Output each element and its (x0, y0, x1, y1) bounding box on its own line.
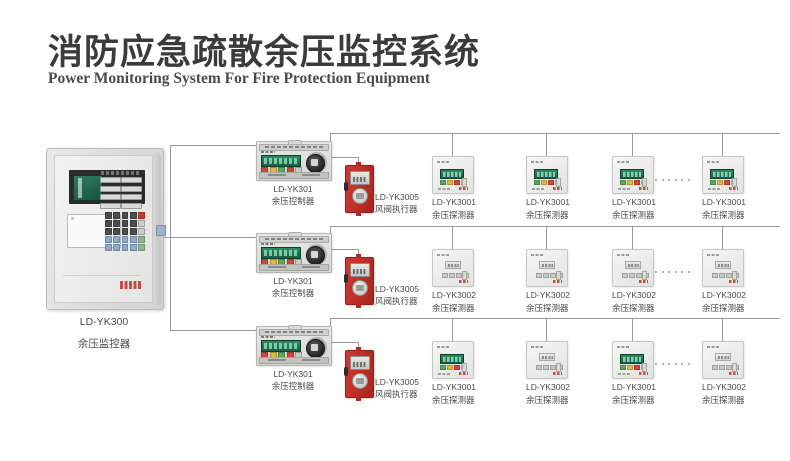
led-off (550, 365, 556, 370)
detector-display-panel (715, 261, 731, 269)
detector-port (732, 178, 737, 187)
detector-tag (707, 161, 719, 164)
led-off (726, 273, 732, 278)
detector-caption: LD-YK3001 余压探测器 (432, 196, 502, 222)
detector-body (526, 156, 568, 194)
led-off (442, 273, 448, 278)
brand-logo (120, 281, 142, 289)
detector-footer-text (708, 188, 720, 190)
detector-model-label: LD-YK3002 (702, 289, 772, 302)
ellipsis-row-1 (655, 179, 690, 181)
led-off (629, 273, 635, 278)
keypad-key[interactable] (105, 236, 112, 243)
detector-name-label: 余压探测器 (432, 209, 502, 222)
controller-model-label: LD-YK301 (248, 183, 338, 195)
keypad-key[interactable] (130, 228, 137, 235)
actuator-body (345, 350, 374, 398)
detector-row-1-4[interactable]: LD-YK3001 余压探测器 (702, 156, 742, 194)
controller-rotary-dial[interactable] (306, 246, 325, 265)
wire-detector-drop-3-2 (546, 318, 547, 341)
detector-port (642, 271, 647, 280)
detector-brand-mark (639, 187, 648, 190)
detector-body (432, 156, 474, 194)
keypad-key[interactable] (113, 228, 120, 235)
detector-model-label: LD-YK3001 (612, 381, 682, 394)
detector-lcd-screen (620, 354, 644, 364)
detector-caption: LD-YK3001 余压探测器 (432, 381, 502, 407)
detector-row-3-4[interactable]: LD-YK3002 余压探测器 (702, 341, 742, 379)
detector-row-3-1[interactable]: LD-YK3001 余压探测器 (432, 341, 472, 379)
fire-control-panel[interactable]: LD-YK300 余压监控器 (46, 148, 162, 310)
panel-button[interactable] (121, 203, 142, 209)
keypad-key[interactable] (105, 212, 112, 219)
ellipsis-row-2 (655, 271, 690, 273)
keypad-key[interactable] (130, 212, 137, 219)
detector-tag (707, 346, 719, 349)
detector-name-label: 余压探测器 (612, 394, 682, 407)
panel-button[interactable] (100, 186, 121, 192)
detector-model-label: LD-YK3002 (526, 381, 596, 394)
ellipsis-row-3 (655, 363, 690, 365)
panel-button-header-text (101, 171, 141, 175)
detector-tag (437, 161, 449, 164)
detector-name-label: 余压探测器 (612, 302, 682, 315)
detector-port (642, 363, 647, 372)
controller-body (256, 141, 332, 181)
keypad-key[interactable] (113, 236, 120, 243)
detector-model-label: LD-YK3001 (702, 196, 772, 209)
led-green (534, 180, 540, 185)
damper-actuator-row-2[interactable]: LD-YK3005 风阀执行器 (345, 257, 372, 305)
actuator-top-lug (356, 347, 361, 351)
wire-trunk-row-1 (330, 133, 780, 134)
detector-tag (531, 161, 543, 164)
keypad-key[interactable] (122, 220, 129, 227)
panel-button[interactable] (121, 186, 142, 192)
controller-body (256, 233, 332, 273)
detector-row-3-2[interactable]: LD-YK3002 余压探测器 (526, 341, 566, 379)
controller-model-label: LD-YK301 (248, 368, 338, 380)
controller-rotary-dial[interactable] (306, 339, 325, 358)
detector-model-label: LD-YK3002 (702, 381, 772, 394)
wire-detector-drop-2-2 (546, 226, 547, 249)
led-off (536, 365, 542, 370)
detector-name-label: 余压探测器 (702, 302, 772, 315)
detector-body (702, 249, 744, 287)
detector-tag (437, 254, 449, 257)
detector-port (556, 178, 561, 187)
led-off (543, 365, 549, 370)
detector-port (556, 363, 561, 372)
detector-brand-mark (553, 280, 562, 283)
panel-keypad[interactable] (105, 212, 145, 252)
detector-caption: LD-YK3002 余压探测器 (702, 289, 772, 315)
led-off (622, 273, 628, 278)
controller-row-2[interactable]: LD-YK301 余压控制器 (256, 233, 330, 273)
detector-name-label: 余压探测器 (432, 302, 502, 315)
detector-name-label: 余压探测器 (526, 209, 596, 222)
led-off (536, 273, 542, 278)
wire-detector-drop-3-3 (632, 318, 633, 341)
detector-brand-mark (729, 280, 738, 283)
detector-name-label: 余压探测器 (526, 394, 596, 407)
actuator-knob[interactable] (352, 188, 368, 204)
detector-footer-text (532, 188, 544, 190)
panel-button[interactable] (100, 177, 121, 183)
detector-caption: LD-YK3002 余压探测器 (702, 381, 772, 407)
panel-button[interactable] (100, 194, 121, 200)
detector-model-label: LD-YK3001 (432, 381, 502, 394)
detector-footer-text (438, 373, 450, 375)
controller-model-label: LD-YK301 (248, 275, 338, 287)
actuator-display (350, 356, 370, 370)
detector-port (462, 178, 467, 187)
detector-display-panel (539, 353, 555, 361)
wire-detector-drop-3-1 (452, 318, 453, 341)
controller-terminal-strip (259, 329, 329, 336)
led-green (620, 180, 626, 185)
actuator-side-connector (344, 367, 348, 376)
actuator-body (345, 257, 374, 305)
keypad-key[interactable] (130, 220, 137, 227)
led-yellow (447, 180, 453, 185)
led-red (634, 365, 640, 370)
led-off (712, 273, 718, 278)
led-green (440, 365, 446, 370)
detector-body (526, 249, 568, 287)
detector-lcd-screen (440, 169, 464, 179)
led-off (550, 273, 556, 278)
detector-brand-mark (553, 372, 562, 375)
wire-detector-drop-3-4 (722, 318, 723, 341)
controller-terminal-strip (259, 236, 329, 243)
detector-row-1-1[interactable]: LD-YK3001 余压探测器 (432, 156, 472, 194)
wire-detector-drop-2-1 (452, 226, 453, 249)
detector-body (612, 249, 654, 287)
detector-tag (437, 346, 449, 349)
detector-model-label: LD-YK3002 (526, 289, 596, 302)
actuator-bottom-lug (356, 304, 361, 308)
led-off (719, 365, 725, 370)
detector-model-label: LD-YK3001 (432, 196, 502, 209)
led-off (449, 273, 455, 278)
wire-controller-to-actuator-2 (330, 249, 358, 250)
panel-bus-port (156, 225, 166, 236)
actuator-side-connector (344, 274, 348, 283)
wire-controller-to-actuator-1 (330, 157, 358, 158)
detector-display-panel (539, 261, 555, 269)
keypad-key[interactable] (113, 220, 120, 227)
detector-body (612, 156, 654, 194)
detector-caption: LD-YK3002 余压探测器 (432, 289, 502, 315)
detector-caption: LD-YK3002 余压探测器 (526, 289, 596, 315)
controller-rotary-dial[interactable] (306, 154, 325, 173)
wire-detector-drop-1-1 (452, 133, 453, 156)
detector-tag (531, 346, 543, 349)
actuator-side-connector (344, 182, 348, 191)
led-green (710, 180, 716, 185)
panel-faceplate (54, 155, 153, 303)
detector-row-1-2[interactable]: LD-YK3001 余压探测器 (526, 156, 566, 194)
keypad-key[interactable] (122, 236, 129, 243)
controller-lcd-screen (261, 155, 301, 167)
detector-footer-text (618, 373, 630, 375)
detector-lcd-screen (534, 169, 558, 179)
wire-controller-riser-3 (330, 318, 331, 326)
detector-brand-mark (459, 280, 468, 283)
damper-actuator-row-3[interactable]: LD-YK3005 风阀执行器 (345, 350, 372, 398)
controller-terminal-strip (259, 144, 329, 151)
detector-footer-text (438, 188, 450, 190)
led-yellow (627, 365, 633, 370)
led-off (636, 273, 642, 278)
controller-terminal-text (265, 146, 323, 148)
detector-port (642, 178, 647, 187)
detector-row-3-3[interactable]: LD-YK3001 余压探测器 (612, 341, 652, 379)
led-yellow (541, 180, 547, 185)
detector-model-label: LD-YK3001 (526, 196, 596, 209)
detector-brand-mark (729, 372, 738, 375)
detector-caption: LD-YK3001 余压探测器 (612, 196, 682, 222)
detector-tag (531, 254, 543, 257)
led-yellow (627, 180, 633, 185)
detector-model-label: LD-YK3002 (612, 289, 682, 302)
detector-lcd-screen (710, 169, 734, 179)
panel-lcd-screen (73, 175, 103, 201)
detector-row-2-4[interactable]: LD-YK3002 余压探测器 (702, 249, 742, 287)
panel-button[interactable] (100, 203, 121, 209)
keypad-key[interactable] (105, 228, 112, 235)
controller-caption: LD-YK301 余压控制器 (248, 183, 338, 208)
wire-detector-drop-2-3 (632, 226, 633, 249)
damper-actuator-row-1[interactable]: LD-YK3005 风阀执行器 (345, 165, 372, 213)
detector-row-1-3[interactable]: LD-YK3001 余压探测器 (612, 156, 652, 194)
page-title-cn: 消防应急疏散余压监控系统 (48, 24, 480, 75)
led-red (454, 365, 460, 370)
detector-tag (617, 161, 629, 164)
wire-controller-to-actuator-3 (330, 342, 358, 343)
wire-detector-drop-1-4 (722, 133, 723, 156)
wire-controller-riser-1 (330, 133, 331, 141)
detector-lcd-screen (440, 354, 464, 364)
led-off (456, 273, 462, 278)
led-off (719, 273, 725, 278)
keypad-key[interactable] (138, 236, 145, 243)
detector-lcd-screen (620, 169, 644, 179)
controller-sublabel (261, 243, 275, 245)
keypad-key[interactable] (113, 212, 120, 219)
controller-base-terminals (259, 357, 329, 364)
actuator-knob[interactable] (352, 373, 368, 389)
detector-brand-mark (459, 187, 468, 190)
controller-caption: LD-YK301 余压控制器 (248, 368, 338, 393)
panel-display-bezel (69, 170, 145, 204)
led-green (620, 365, 626, 370)
controller-row-1[interactable]: LD-YK301 余压控制器 (256, 141, 330, 181)
detector-brand-mark (639, 280, 648, 283)
diagram-canvas: 消防应急疏散余压监控系统 Power Monitoring System For… (0, 0, 790, 461)
detector-name-label: 余压探测器 (432, 394, 502, 407)
panel-button[interactable] (121, 194, 142, 200)
controller-lcd-screen (261, 340, 301, 352)
detector-model-label: LD-YK3001 (612, 196, 682, 209)
keypad-key[interactable] (105, 244, 112, 251)
led-red (548, 180, 554, 185)
detector-caption: LD-YK3001 余压探测器 (612, 381, 682, 407)
detector-name-label: 余压探测器 (702, 394, 772, 407)
keypad-key[interactable] (138, 220, 145, 227)
actuator-display (350, 171, 370, 185)
actuator-top-lug (356, 254, 361, 258)
keypad-key-alarm[interactable] (138, 212, 145, 219)
wire-detector-drop-1-3 (632, 133, 633, 156)
actuator-knob[interactable] (352, 280, 368, 296)
wire-vertical-bus (170, 145, 171, 331)
controller-row-3[interactable]: LD-YK301 余压控制器 (256, 326, 330, 366)
detector-body (702, 341, 744, 379)
detector-row-2-1[interactable]: LD-YK3002 余压探测器 (432, 249, 472, 287)
detector-display-panel (625, 261, 641, 269)
led-yellow (447, 365, 453, 370)
detector-display-panel (445, 261, 461, 269)
panel-button[interactable] (121, 177, 142, 183)
detector-brand-mark (459, 372, 468, 375)
led-red (454, 180, 460, 185)
keypad-key[interactable] (130, 244, 137, 251)
panel-name-label: 余压监控器 (46, 336, 162, 351)
wire-trunk-row-3 (330, 318, 780, 319)
detector-model-label: LD-YK3002 (432, 289, 502, 302)
led-green (440, 180, 446, 185)
detector-brand-mark (639, 372, 648, 375)
controller-body (256, 326, 332, 366)
detector-port (462, 271, 467, 280)
detector-tag (617, 254, 629, 257)
actuator-bottom-lug (356, 212, 361, 216)
detector-name-label: 余压探测器 (526, 302, 596, 315)
actuator-top-lug (356, 162, 361, 166)
controller-sublabel (261, 151, 275, 153)
controller-sublabel (261, 336, 275, 338)
controller-base-terminals (259, 264, 329, 271)
actuator-display (350, 263, 370, 277)
wire-detector-drop-1-2 (546, 133, 547, 156)
wire-detector-drop-2-4 (722, 226, 723, 249)
keypad-key[interactable] (105, 220, 112, 227)
controller-name-label: 余压控制器 (248, 380, 338, 392)
detector-port (556, 271, 561, 280)
detector-brand-mark (553, 187, 562, 190)
wire-trunk-row-2 (330, 226, 780, 227)
detector-body (432, 249, 474, 287)
led-red (724, 180, 730, 185)
panel-enclosure (46, 148, 164, 310)
led-off (726, 365, 732, 370)
detector-tag (617, 346, 629, 349)
detector-row-2-2[interactable]: LD-YK3002 余压探测器 (526, 249, 566, 287)
controller-name-label: 余压控制器 (248, 287, 338, 299)
detector-tag (707, 254, 719, 257)
detector-name-label: 余压探测器 (612, 209, 682, 222)
controller-terminal-text (265, 238, 323, 240)
keypad-key[interactable] (122, 228, 129, 235)
detector-caption: LD-YK3002 余压探测器 (612, 289, 682, 315)
detector-body (526, 341, 568, 379)
page-title-en: Power Monitoring System For Fire Protect… (48, 70, 430, 88)
detector-body (612, 341, 654, 379)
detector-body (432, 341, 474, 379)
detector-caption: LD-YK3002 余压探测器 (526, 381, 596, 407)
led-off (543, 273, 549, 278)
controller-lcd-screen (261, 247, 301, 259)
detector-footer-text (618, 188, 630, 190)
led-yellow (717, 180, 723, 185)
detector-caption: LD-YK3001 余压探测器 (702, 196, 772, 222)
panel-divider (63, 275, 140, 276)
detector-name-label: 余压探测器 (702, 209, 772, 222)
actuator-bottom-lug (356, 397, 361, 401)
panel-button-grid[interactable] (100, 177, 142, 211)
detector-port (732, 271, 737, 280)
controller-terminal-text (265, 331, 323, 333)
keypad-key[interactable] (122, 244, 129, 251)
keypad-key[interactable] (122, 212, 129, 219)
controller-name-label: 余压控制器 (248, 195, 338, 207)
detector-port (732, 363, 737, 372)
led-off (712, 365, 718, 370)
detector-display-panel (715, 353, 731, 361)
keypad-key[interactable] (138, 244, 145, 251)
panel-model-label: LD-YK300 (46, 316, 162, 328)
detector-row-2-3[interactable]: LD-YK3002 余压探测器 (612, 249, 652, 287)
detector-caption: LD-YK3001 余压探测器 (526, 196, 596, 222)
keypad-key[interactable] (113, 244, 120, 251)
actuator-body (345, 165, 374, 213)
detector-body (702, 156, 744, 194)
led-red (634, 180, 640, 185)
detector-brand-mark (729, 187, 738, 190)
detector-port (462, 363, 467, 372)
keypad-key[interactable] (138, 228, 145, 235)
controller-caption: LD-YK301 余压控制器 (248, 275, 338, 300)
controller-base-terminals (259, 172, 329, 179)
keypad-key[interactable] (130, 236, 137, 243)
